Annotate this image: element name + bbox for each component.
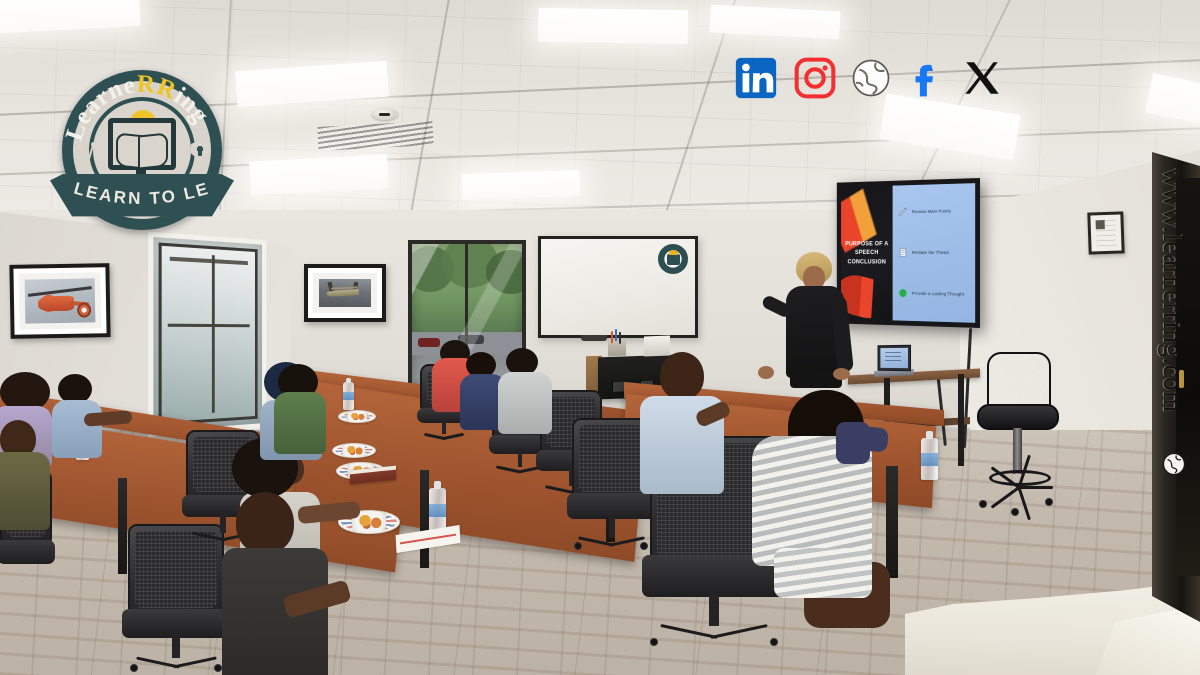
barn-door-rail xyxy=(170,257,248,265)
bullet-text: Review Main Points xyxy=(912,209,951,215)
globe-icon xyxy=(1162,452,1186,476)
chair-caster xyxy=(770,638,778,646)
marker-tray xyxy=(581,335,607,341)
laptop-display xyxy=(880,348,908,368)
chair-caster xyxy=(640,542,648,550)
chair-seat xyxy=(122,609,230,638)
tv-display: PURPOSE OF A SPEECH CONCLUSION Review Ma… xyxy=(837,178,980,328)
marker-cups xyxy=(608,340,626,357)
office-chair[interactable] xyxy=(128,524,224,670)
instagram-icon[interactable] xyxy=(793,56,837,100)
chair-caster xyxy=(130,664,138,672)
linkedin-icon[interactable] xyxy=(733,55,779,101)
screenshot-root: PURPOSE OF A SPEECH CONCLUSION Review Ma… xyxy=(0,0,1200,675)
bullet-text: Restate the Thesis xyxy=(912,250,949,255)
chair-caster xyxy=(1045,498,1053,506)
table-leg xyxy=(420,470,429,568)
framed-certificate xyxy=(1087,211,1124,254)
torso xyxy=(52,400,102,458)
x-twitter-icon[interactable] xyxy=(961,57,1003,99)
facebook-icon[interactable] xyxy=(905,57,947,99)
helicopter-photo xyxy=(25,278,96,323)
logo-tagline-banner: LEARN TO LEAD xyxy=(50,174,234,220)
marker xyxy=(619,332,621,344)
tagline-text: LEARN TO LEAD xyxy=(50,174,212,208)
slide-title-line: PURPOSE OF A xyxy=(843,240,891,249)
gas-cylinder xyxy=(1013,428,1022,474)
water-bottle xyxy=(429,488,446,532)
laptop-screen[interactable] xyxy=(878,345,911,371)
helicopter-wheel xyxy=(77,302,91,317)
interior-window xyxy=(148,231,266,436)
drafting-chair-seat xyxy=(977,404,1059,430)
torso xyxy=(0,452,50,530)
presenter-hand xyxy=(758,366,774,379)
learnerring-logo[interactable]: LearneRRing LEARN TO LEAD xyxy=(62,70,222,230)
document-icon xyxy=(898,248,908,259)
chair-seat xyxy=(0,540,55,564)
slide-bullets-panel: Review Main Points Restate the Thesis Pr… xyxy=(893,183,975,323)
whiteboard xyxy=(538,236,698,338)
smoke-detector-icon xyxy=(372,108,398,120)
paper-plate xyxy=(338,410,376,423)
chair-caster xyxy=(1011,508,1019,516)
ceiling-light-panel xyxy=(249,154,389,195)
chair-base xyxy=(660,621,768,642)
green-dot-icon xyxy=(898,288,908,299)
certificate-seal xyxy=(1096,220,1105,229)
ceiling-light-panel xyxy=(538,8,689,45)
slide-bullet: Provide a Lasting Thought xyxy=(898,288,972,300)
torso xyxy=(498,372,552,434)
chair-caster xyxy=(650,638,658,646)
website-url-watermark: www.learnerring.com xyxy=(1157,168,1188,413)
shorts xyxy=(774,548,872,598)
slide-bullet: Review Main Points xyxy=(898,206,972,218)
table-leg xyxy=(886,466,898,578)
aircraft-body xyxy=(327,289,360,297)
window-glass xyxy=(159,242,258,425)
open-book-icon xyxy=(116,134,168,164)
slide-title-panel: PURPOSE OF A SPEECH CONCLUSION xyxy=(841,186,893,321)
paper-plate xyxy=(332,443,376,458)
window-mullion xyxy=(168,323,250,327)
whiteboard-logo-decal xyxy=(658,244,688,274)
slide-bullet: Restate the Thesis xyxy=(898,247,972,258)
chair-mesh xyxy=(135,531,217,608)
torso xyxy=(274,392,326,454)
chair-mesh xyxy=(579,425,645,492)
chair-base xyxy=(424,432,464,440)
pencil-icon xyxy=(898,207,908,218)
plate-rim-pattern xyxy=(335,446,373,455)
slide-title: PURPOSE OF A SPEECH CONCLUSION xyxy=(843,240,891,267)
network-node-icon xyxy=(78,142,96,164)
chair-caster xyxy=(214,664,222,672)
chair-seat xyxy=(567,493,657,519)
water-bottle xyxy=(921,438,938,480)
presenter-hand xyxy=(833,368,850,380)
marker xyxy=(611,331,613,343)
drafting-chair[interactable] xyxy=(975,352,1061,520)
head xyxy=(236,492,294,554)
slide-title-line: CONCLUSION xyxy=(843,257,891,266)
marker xyxy=(615,329,617,341)
svg-text:LEARN TO LEAD: LEARN TO LEAD xyxy=(50,174,212,208)
social-icons xyxy=(733,55,1003,101)
head xyxy=(660,352,704,400)
window-mullion xyxy=(212,255,215,413)
plate-rim-pattern xyxy=(341,413,373,420)
globe-icon[interactable] xyxy=(851,58,891,98)
chair-caster xyxy=(979,500,987,508)
chair-base xyxy=(136,655,217,670)
chair-caster xyxy=(574,542,582,550)
bullet-text: Provide a Lasting Thought xyxy=(912,291,964,297)
cloth-fold xyxy=(1095,604,1200,675)
osprey-photo xyxy=(319,279,371,307)
table-leg xyxy=(118,478,127,574)
framed-osprey-photo xyxy=(304,264,386,322)
slide-title-line: SPEECH xyxy=(843,248,891,257)
ceiling-light-panel xyxy=(462,170,581,200)
banner-tagline: LEARN TO LEAD xyxy=(50,174,234,220)
framed-helicopter-photo xyxy=(9,263,110,339)
torso xyxy=(836,422,870,464)
chair-base xyxy=(578,535,645,548)
water-bottle xyxy=(343,382,354,410)
tissue-box xyxy=(644,336,670,357)
podium-leg xyxy=(958,374,964,466)
